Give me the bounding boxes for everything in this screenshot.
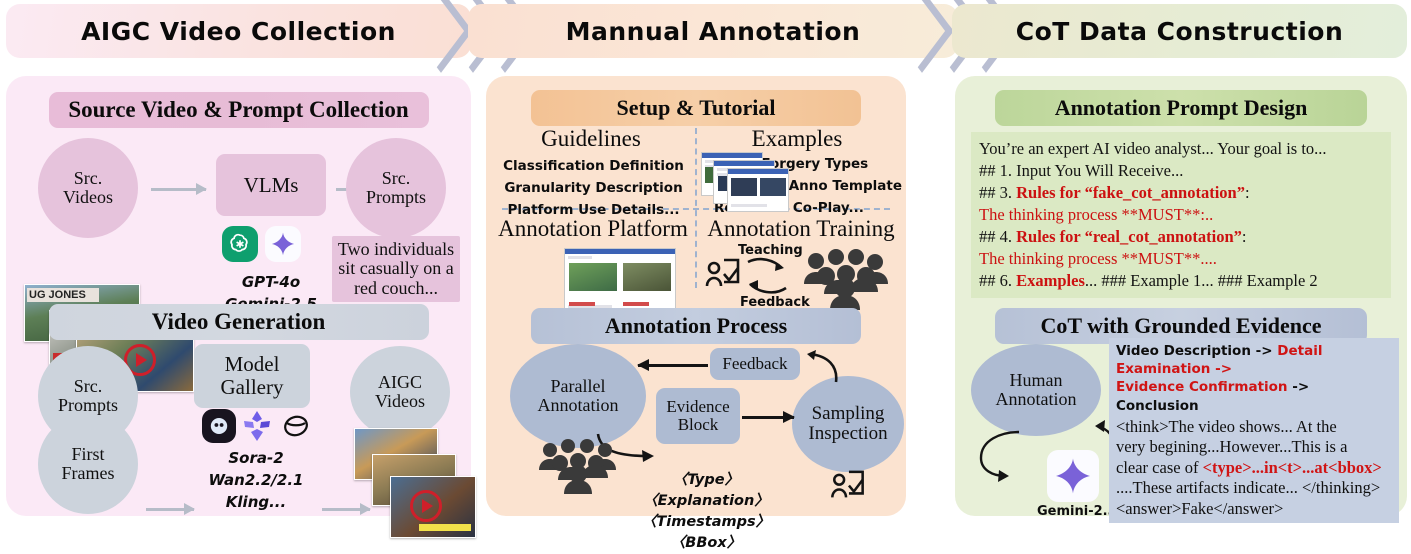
stage-header-aigc-video-collection: AIGC Video Collection: [6, 4, 471, 58]
teaching-feedback-loop-icon: [744, 254, 792, 306]
cot-body-line-1: <think>The video shows... At the: [1116, 417, 1392, 437]
node-src-prompts: Src.Prompts: [346, 138, 446, 238]
prompt-example-text: Two individuals sit casually on a red co…: [332, 240, 460, 298]
node-vlms-label: VLMs: [244, 174, 299, 197]
subhead-annotation-training: Annotation Training: [698, 216, 904, 242]
section-title-setup-tutorial: Setup & Tutorial: [531, 90, 861, 126]
play-icon: [410, 490, 442, 522]
node-src-prompts-label: Src.Prompts: [366, 169, 426, 207]
cot-body-line-5: <answer>Fake</answer>: [1116, 499, 1392, 519]
evidence-fields: 〈Type〉〈Explanation〉 〈Timestamps〉〈BBox〉: [616, 470, 796, 554]
subhead-guidelines: Guidelines: [496, 126, 686, 152]
gemini-icon: [265, 226, 301, 262]
openai-icon: [222, 226, 258, 262]
arrow-feedback-to-parallel: [638, 364, 708, 367]
node-sampling-inspection-label: SamplingInspection: [808, 404, 887, 444]
section-title-annotation-prompt-design: Annotation Prompt Design: [995, 90, 1367, 126]
node-src-videos: Src.Videos: [38, 138, 138, 238]
guidelines-items: Classification DefinitionGranularity Des…: [496, 156, 691, 222]
screenshot: [727, 168, 789, 212]
prompt-line-1: You’re an expert AI video analyst... You…: [979, 138, 1383, 160]
node-aigc-videos-label: AIGCVideos: [375, 373, 425, 411]
node-vlms: VLMs: [216, 154, 326, 216]
aigc-video-thumbnail-stack: [354, 428, 476, 548]
cot-body-line-3: clear case of <type>...in<t>...at<bbox>: [1116, 458, 1392, 478]
cot-body-line-2: very begining...However...This is a: [1116, 437, 1392, 457]
prompt-line-4: The thinking process **MUST**:..: [979, 204, 1383, 226]
wan-icon: [238, 407, 276, 445]
stage-header-cot-data-construction: CoT Data Construction: [952, 4, 1407, 58]
node-feedback: Feedback: [710, 348, 800, 380]
inspector-person-icon: [826, 468, 868, 512]
examples-screenshot-stack: [701, 152, 791, 208]
node-evidence-block: EvidenceBlock: [656, 388, 740, 444]
prompt-line-3: ## 3. Rules for “fake_cot_annotation”:: [979, 182, 1383, 204]
section-title-source-video-prompt-collection: Source Video & Prompt Collection: [49, 92, 429, 128]
subhead-annotation-platform: Annotation Platform: [490, 216, 696, 242]
node-model-gallery: ModelGallery: [194, 344, 310, 408]
node-evidence-block-label: EvidenceBlock: [666, 398, 729, 435]
node-gen-src-prompts-label: Src.Prompts: [58, 377, 118, 415]
section-title-annotation-process: Annotation Process: [531, 308, 861, 344]
prompt-line-2: ## 1. Input You Will Receive...: [979, 160, 1383, 182]
stage-header-mannual-annotation: Mannual Annotation: [468, 4, 958, 58]
gen-model-list: Sora-2Wan2.2/2.1Kling...: [186, 448, 326, 513]
cot-output-box: Video Description -> Detail Examination …: [1109, 338, 1399, 523]
prompt-example-box: Two individuals sit casually on a red co…: [332, 236, 460, 302]
prompt-line-5: ## 4. Rules for “real_cot_annotation”:: [979, 226, 1383, 248]
arrow-videos-to-vlms: [151, 188, 206, 191]
arrow-sampling-to-feedback: [798, 348, 842, 386]
node-src-videos-label: Src.Videos: [63, 169, 113, 207]
node-feedback-label: Feedback: [722, 355, 787, 373]
trainer-person-icon: [702, 256, 742, 301]
annotation-platform-screenshot: [564, 248, 676, 310]
cot-body-line-4: ....These artifacts indicate... </thinki…: [1116, 478, 1392, 498]
evidence-fields-line1: 〈Type〉〈Explanation〉: [643, 472, 769, 509]
subhead-examples: Examples: [702, 126, 892, 152]
node-aigc-videos: AIGCVideos: [350, 346, 450, 438]
annotator-crowd-icon-2: [538, 438, 618, 494]
sora-icon: [202, 409, 236, 443]
section-title-video-generation: Video Generation: [49, 304, 429, 340]
node-first-frames-label: FirstFrames: [62, 445, 115, 483]
node-model-gallery-label: ModelGallery: [221, 353, 284, 398]
annotator-crowd-icon: [802, 248, 888, 310]
node-human-annotation: HumanAnnotation: [971, 344, 1101, 436]
kling-icon: [278, 408, 314, 444]
panel-aigc-video-collection: Source Video & Prompt Collection Src.Vid…: [6, 76, 471, 516]
cot-flow-line2: Evidence Confirmation -> Conclusion: [1116, 378, 1392, 414]
prompt-line-6: The thinking process **MUST**....: [979, 248, 1383, 270]
cot-flow-line1: Video Description -> Detail Examination …: [1116, 342, 1392, 378]
panel-mannual-annotation: Setup & Tutorial Guidelines Classificati…: [486, 76, 906, 516]
node-human-annotation-label: HumanAnnotation: [996, 371, 1077, 409]
prompt-line-7: ## 6. Examples... ### Example 1... ### E…: [979, 270, 1383, 292]
annotation-prompt-text: You’re an expert AI video analyst... You…: [971, 132, 1391, 298]
arrow-evidence-to-sampling: [742, 416, 794, 419]
panel-cot-data-construction: Annotation Prompt Design You’re an exper…: [955, 76, 1407, 516]
stage-header-bar: AIGC Video Collection Mannual Annotation…: [0, 0, 1411, 62]
node-sampling-inspection: SamplingInspection: [792, 376, 904, 472]
node-parallel-annotation-label: ParallelAnnotation: [538, 377, 619, 415]
node-first-frames: FirstFrames: [38, 414, 138, 514]
pipeline-figure: AIGC Video Collection Mannual Annotation…: [0, 0, 1411, 520]
